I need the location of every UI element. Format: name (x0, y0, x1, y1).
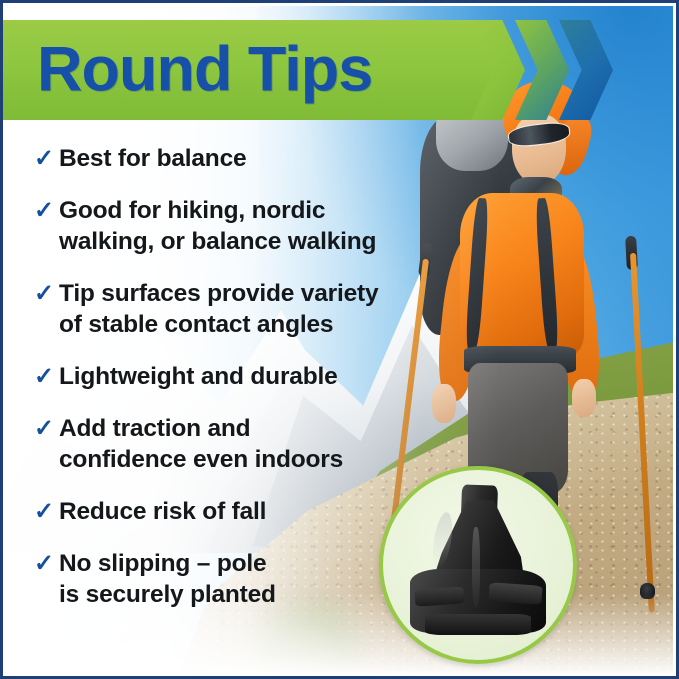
title-banner: Round Tips (3, 20, 501, 120)
list-item-label: Best for balance (59, 143, 246, 174)
pole-tip-tread-bottom (425, 614, 531, 635)
pole-tip-tread-left (415, 586, 465, 606)
hiker-right-hand (572, 379, 596, 417)
check-icon: ✓ (34, 496, 59, 527)
check-icon: ✓ (34, 143, 59, 174)
check-icon: ✓ (34, 195, 59, 226)
list-item-label: Tip surfaces provide variety of stable c… (59, 278, 378, 340)
list-item-label: Reduce risk of fall (59, 496, 266, 527)
list-item-label: Lightweight and durable (59, 361, 338, 392)
list-item: ✓ Tip surfaces provide variety of stable… (34, 278, 464, 340)
product-inset-circle (379, 466, 577, 664)
check-icon: ✓ (34, 413, 59, 444)
check-icon: ✓ (34, 548, 59, 579)
list-item-label: Good for hiking, nordic walking, or bala… (59, 195, 376, 257)
list-item: ✓ Best for balance (34, 143, 464, 174)
list-item-label: Add traction and confidence even indoors (59, 413, 343, 475)
check-icon: ✓ (34, 361, 59, 392)
list-item: ✓ Good for hiking, nordic walking, or ba… (34, 195, 464, 257)
pole-tip-groove (472, 527, 480, 607)
pole-tip-tread-right (489, 582, 543, 605)
page-title: Round Tips (37, 39, 372, 102)
list-item: ✓ Lightweight and durable (34, 361, 464, 392)
round-tips-infographic: Round Tips ✓ Best for balance ✓ Good for… (0, 0, 679, 679)
check-icon: ✓ (34, 278, 59, 309)
list-item: ✓ Add traction and confidence even indoo… (34, 413, 464, 475)
list-item-label: No slipping – pole is securely planted (59, 548, 276, 610)
